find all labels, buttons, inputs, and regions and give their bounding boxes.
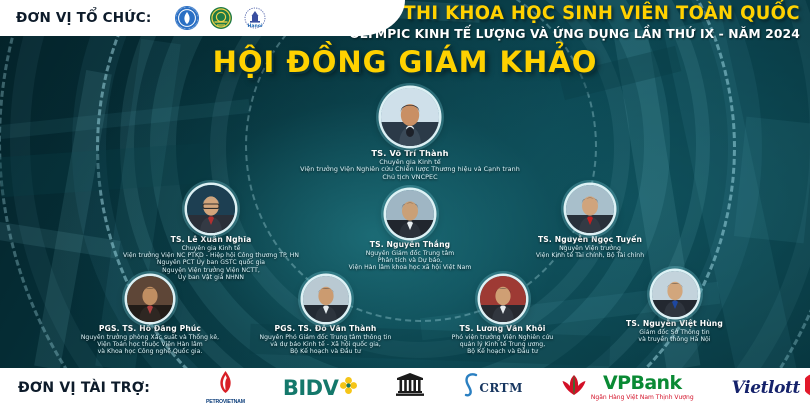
petrovietnam-flame-icon xyxy=(217,371,234,398)
judge-photo xyxy=(187,185,235,233)
judge-role-line: Nguyên Viện trưởng Viện NCTT, xyxy=(96,267,326,274)
judge-role-line: Bộ Kế hoạch và Đầu tư xyxy=(400,348,605,355)
judge-card: TS. Nguyễn Ngọc Tuyến Nguyên Viện trưởng… xyxy=(475,185,705,259)
sponsor-vietlott[interactable]: Vietlott xyxy=(732,374,810,401)
judge-role-line: Chủ tịch VNCPEC xyxy=(286,174,534,182)
organizer-logos: Hanoi xyxy=(175,6,267,30)
vpbank-wordmark: VPBank xyxy=(603,374,682,393)
vietlott-ball-icon xyxy=(805,374,810,401)
judge-photo xyxy=(303,276,349,322)
poster-canvas: ĐƠN VỊ TỔ CHỨC: xyxy=(0,0,810,407)
judge-name: TS. Nguyễn Việt Hùng xyxy=(572,320,777,329)
organizer-label: ĐƠN VỊ TỔ CHỨC: xyxy=(16,10,151,26)
judge-photo xyxy=(480,276,526,322)
avatar xyxy=(127,276,173,322)
sponsor-crtm[interactable]: CRTM xyxy=(463,373,523,402)
bg-slab-1 xyxy=(0,99,250,139)
event-header: HỘI THI KHOA HỌC SINH VIÊN TOÀN QUỐC OLY… xyxy=(340,4,800,41)
judge-photo xyxy=(652,271,698,317)
crtm-wordmark: CRTM xyxy=(479,381,523,395)
sponsor-vpbank[interactable]: VPBank Ngân Hàng Việt Nam Thịnh Vượng xyxy=(561,374,694,401)
page-title: HỘI ĐỒNG GIÁM KHẢO xyxy=(0,45,810,79)
avatar xyxy=(187,185,235,233)
judge-caption: TS. Lê Xuân Nghĩa Chuyên gia Kinh tế Việ… xyxy=(96,236,326,281)
sponsor-petrovietnam[interactable]: PETROVIETNAM xyxy=(206,371,245,405)
judge-photo xyxy=(566,185,614,233)
avatar xyxy=(381,88,439,146)
judge-role-line: Nguyên PCT Ủy ban GSTC quốc gia xyxy=(96,259,326,266)
organizer-bar: ĐƠN VỊ TỔ CHỨC: xyxy=(0,0,405,36)
judge-caption: TS. Nguyễn Việt Hùng Giám đốc Sở Thông t… xyxy=(572,320,777,343)
avatar xyxy=(480,276,526,322)
vpbank-lotus-icon xyxy=(561,374,587,401)
judge-name: TS. Lê Xuân Nghĩa xyxy=(96,236,326,245)
unesco-temple-icon xyxy=(395,373,425,402)
judge-photo xyxy=(386,190,434,238)
bidv-flower-icon xyxy=(340,377,357,399)
vpbank-tagline: Ngân Hàng Việt Nam Thịnh Vượng xyxy=(591,394,694,401)
judge-caption: TS. Võ Trí Thành Chuyên gia Kinh tế Viện… xyxy=(286,149,534,181)
crtm-swoosh-icon xyxy=(463,373,479,402)
svg-text:Hanoi: Hanoi xyxy=(248,23,263,29)
judge-photo xyxy=(381,88,439,146)
judge-role-line: và truyền thông Hà Nội xyxy=(572,336,777,343)
sponsor-bidv[interactable]: BIDV xyxy=(283,376,358,400)
judge-card: TS. Lê Xuân Nghĩa Chuyên gia Kinh tế Việ… xyxy=(96,185,326,281)
judge-role-line: Viện Kinh tế Tài chính, Bộ Tài chính xyxy=(475,252,705,259)
judge-photo xyxy=(127,276,173,322)
sponsor-bar: ĐƠN VỊ TÀI TRỢ: PETROVIETNAM BIDV xyxy=(0,368,810,407)
logo-neu-icon xyxy=(175,6,199,30)
sponsor-logos: PETROVIETNAM BIDV xyxy=(206,371,810,405)
judge-caption: TS. Nguyễn Ngọc Tuyến Nguyên Viện trưởng… xyxy=(475,236,705,259)
judge-role-line: Viện Hàn lâm khoa học xã hội Việt Nam xyxy=(295,264,525,271)
event-title-line2: OLYMPIC KINH TẾ LƯỢNG VÀ ỨNG DỤNG LẦN TH… xyxy=(349,26,800,41)
petrovietnam-wordmark: PETROVIETNAM xyxy=(206,399,245,405)
bg-slab-11 xyxy=(734,117,810,244)
avatar xyxy=(566,185,614,233)
avatar xyxy=(303,276,349,322)
bidv-wordmark: BIDV xyxy=(283,376,339,400)
event-title-line1: HỘI THI KHOA HỌC SINH VIÊN TOÀN QUỐC xyxy=(354,4,800,23)
judge-card: TS. Võ Trí Thành Chuyên gia Kinh tế Viện… xyxy=(286,88,534,181)
sponsor-unesco[interactable] xyxy=(395,373,425,402)
avatar xyxy=(652,271,698,317)
judge-name: TS. Nguyễn Ngọc Tuyến xyxy=(475,236,705,245)
logo-association-icon xyxy=(209,6,233,30)
logo-hanoi-icon: Hanoi xyxy=(243,6,267,30)
avatar xyxy=(386,190,434,238)
sponsor-label: ĐƠN VỊ TÀI TRỢ: xyxy=(18,380,150,396)
judge-card: TS. Nguyễn Việt Hùng Giám đốc Sở Thông t… xyxy=(572,271,777,343)
vietlott-wordmark: Vietlott xyxy=(732,378,800,398)
